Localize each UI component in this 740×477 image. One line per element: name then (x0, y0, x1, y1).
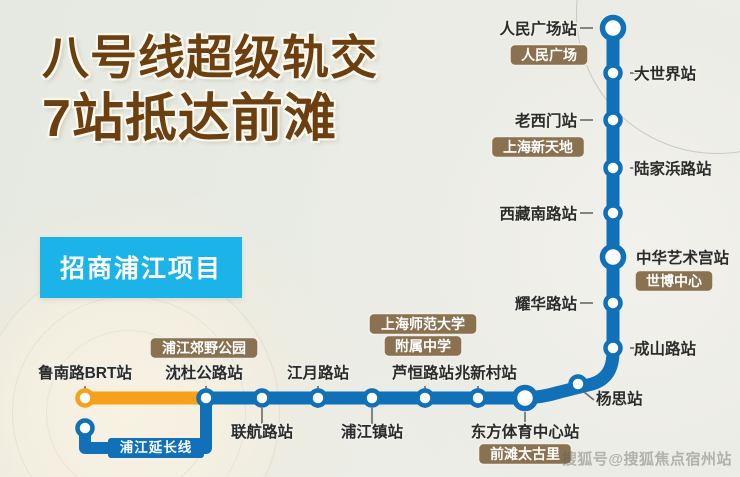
poi-badge: 前滩太古里 (479, 444, 572, 465)
station-dot[interactable] (471, 391, 486, 406)
station-dot[interactable] (199, 391, 214, 406)
poi-badge: 世博中心 (635, 271, 713, 292)
station-dot[interactable] (78, 421, 93, 436)
poi-badge: 附属中学 (384, 336, 462, 357)
branch-label-pill: 浦江延长线 (108, 438, 204, 458)
station-dot[interactable] (603, 18, 624, 39)
station-name-label: 浦江镇站 (341, 422, 404, 441)
headline-block: 八号线超级轨交 7站抵达前滩 (42, 34, 378, 145)
station-dot[interactable] (606, 206, 621, 221)
station-name-label: 大世界站 (634, 64, 697, 83)
poi-badge: 浦江郊野公园 (150, 338, 258, 359)
station-name-label: 江月路站 (287, 363, 350, 382)
poi-badge-text: 上海师范大学 (381, 316, 465, 332)
station-name-label: 耀华路站 (515, 294, 578, 313)
station-name-label: 成山路站 (634, 339, 697, 358)
poi-badge: 人民广场 (510, 45, 588, 66)
station-name-label: 东方体育中心站 (471, 422, 580, 441)
watermark: 搜狐号@搜狐焦点宿州站 (562, 448, 732, 469)
poi-badge-text: 世博中心 (646, 273, 702, 289)
station-name-label: 西藏南路站 (499, 204, 577, 223)
headline-line-2: 7站抵达前滩 (42, 93, 378, 145)
station-name-label: 杨思站 (596, 389, 643, 408)
station-name-label: 人民广场站 (499, 19, 577, 38)
station-name-label: 鲁南路BRT站 (38, 363, 132, 382)
poi-badge: 上海新天地 (492, 137, 585, 158)
station-dot[interactable] (78, 391, 93, 406)
station-dot[interactable] (606, 161, 621, 176)
station-name-label: 联航路站 (231, 422, 294, 441)
poi-badge-text: 附属中学 (395, 338, 451, 354)
poi-badge-text: 前滩太古里 (490, 446, 560, 462)
station-name-label: 老西门站 (514, 111, 578, 130)
station-dot[interactable] (606, 113, 621, 128)
station-dot[interactable] (606, 66, 621, 81)
station-dot[interactable] (606, 296, 621, 311)
station-name-label: 芦恒路站 (392, 363, 455, 382)
poi-badge-text: 上海新天地 (503, 139, 573, 155)
station-dot[interactable] (311, 391, 326, 406)
station-dot[interactable] (571, 377, 586, 392)
station-dot[interactable] (365, 391, 380, 406)
poi-badge-text: 人民广场 (521, 47, 577, 63)
poi-badge: 上海师范大学 (369, 314, 477, 335)
project-tag: 招商浦江项目 (40, 237, 242, 298)
headline-line-1: 八号线超级轨交 (42, 34, 378, 81)
station-name-label: 沈杜公路站 (165, 363, 243, 382)
station-name-label: 陆家浜路站 (634, 159, 712, 178)
poi-badge-text: 浦江郊野公园 (162, 340, 246, 356)
station-dot[interactable] (603, 247, 624, 268)
branch-label-text: 浦江延长线 (120, 439, 193, 455)
station-name-label: 中华艺术宫站 (636, 248, 730, 267)
station-dot[interactable] (515, 388, 536, 409)
station-dot[interactable] (255, 391, 270, 406)
metro-line-poster: 八号线超级轨交 7站抵达前滩 招商浦江项目 (0, 0, 740, 477)
station-dot[interactable] (606, 341, 621, 356)
station-dot[interactable] (418, 391, 433, 406)
